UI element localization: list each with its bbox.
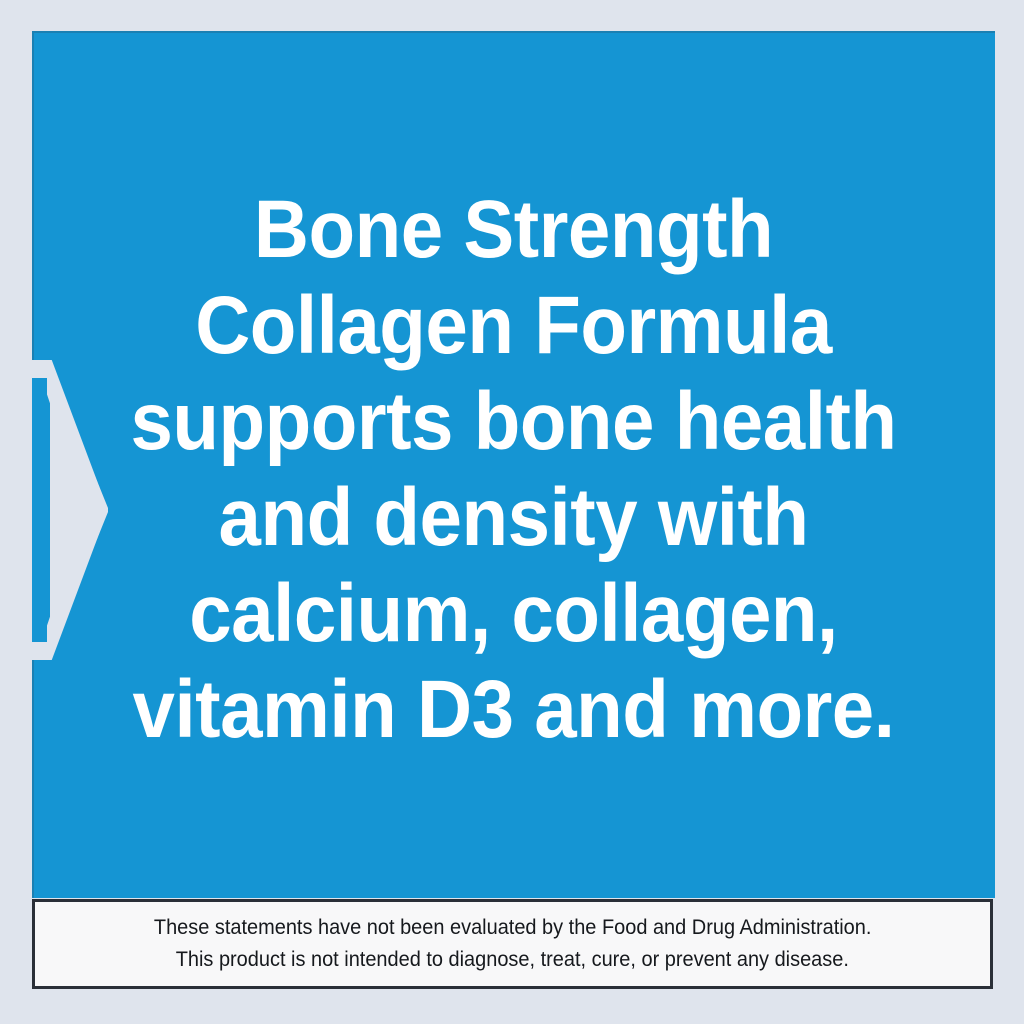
fda-disclaimer-box: These statements have not been evaluated… — [32, 899, 993, 989]
headline-line: Bone Strength — [66, 182, 962, 278]
headline-line: supports bone health — [66, 374, 962, 470]
disclaimer-line: This product is not intended to diagnose… — [176, 944, 849, 976]
product-claim-card: Bone Strength Collagen Formula supports … — [0, 0, 1024, 1024]
disclaimer-line: These statements have not been evaluated… — [154, 912, 872, 944]
headline-line: calcium, collagen, — [66, 566, 962, 662]
page-title: Bone Strength Collagen Formula supports … — [66, 182, 962, 758]
headline-line: Collagen Formula — [66, 278, 962, 374]
headline-line: and density with — [66, 470, 962, 566]
headline-line: vitamin D3 and more. — [66, 662, 962, 758]
